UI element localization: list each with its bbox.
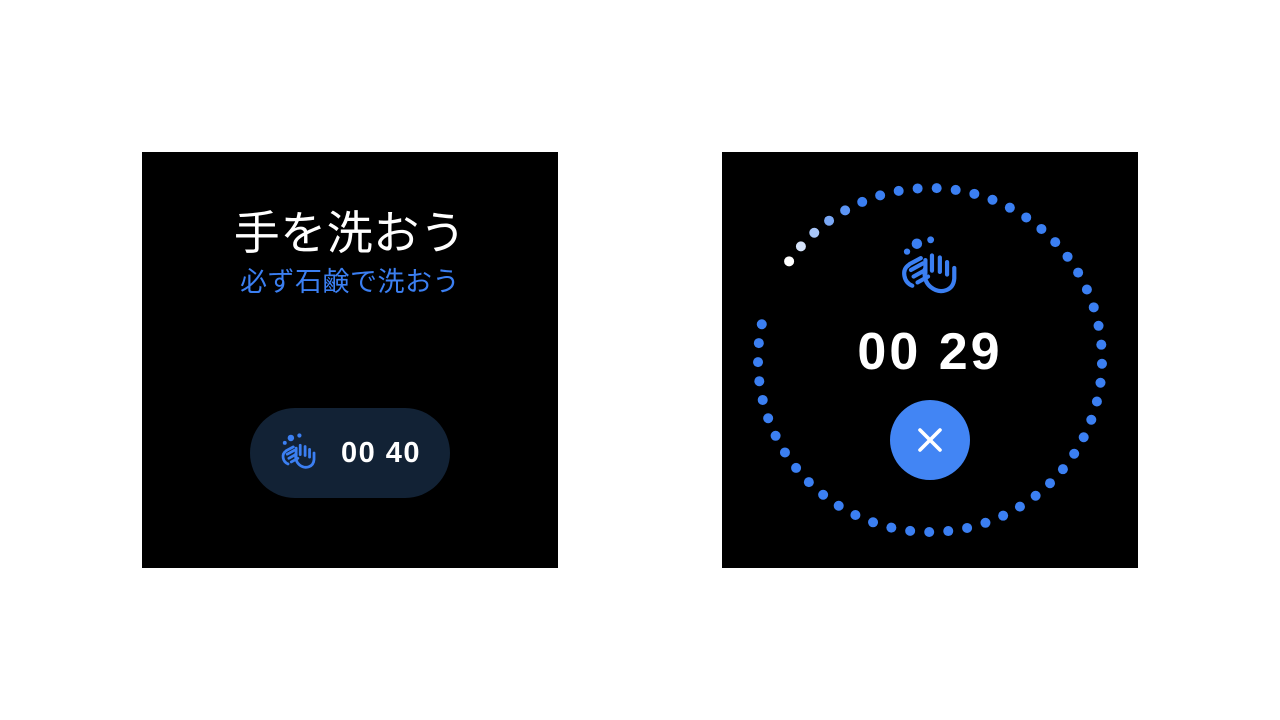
washing-hands-icon <box>273 427 325 479</box>
washing-hands-icon <box>888 226 972 310</box>
page-title: 手を洗おう <box>234 210 467 256</box>
soap-bubbles-icon <box>904 236 934 254</box>
screenshot-stage: 手を洗おう 必ず石鹸で洗おう <box>0 0 1280 720</box>
close-icon <box>912 422 948 458</box>
timer-center-stack: 00 29 <box>722 152 1138 568</box>
soap-bubbles-icon <box>283 433 302 444</box>
timer-screen: 00 29 <box>722 152 1138 568</box>
start-timer-button[interactable]: 00 40 <box>250 408 450 498</box>
cancel-timer-button[interactable] <box>890 400 970 480</box>
start-screen-content: 手を洗おう 必ず石鹸で洗おう <box>142 152 558 568</box>
page-subtitle: 必ず石鹸で洗おう <box>240 269 460 296</box>
start-screen: 手を洗おう 必ず石鹸で洗おう <box>142 152 558 568</box>
timer-screen-content: 00 29 <box>722 152 1138 568</box>
timer-readout: 00 29 <box>857 326 1002 378</box>
start-button-time-label: 00 40 <box>341 439 421 468</box>
